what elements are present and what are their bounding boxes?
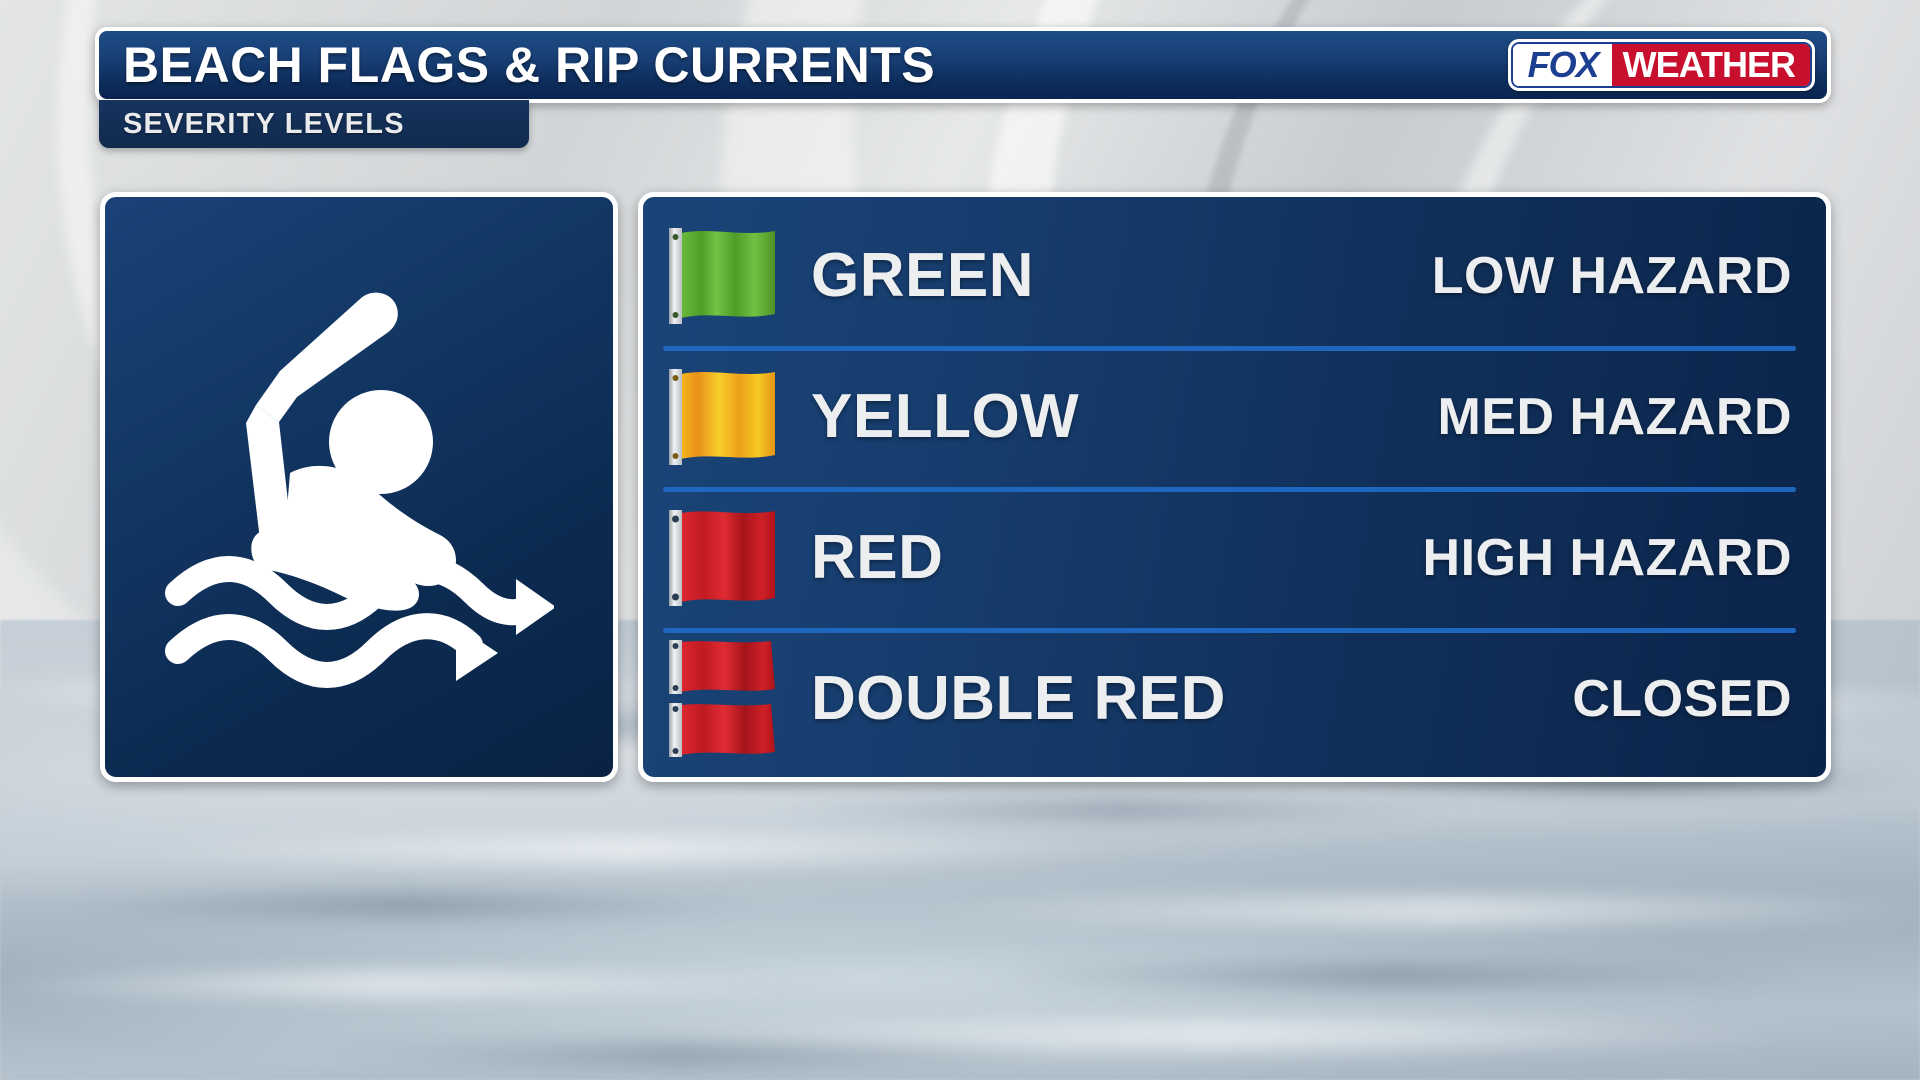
green-beach-flag-icon bbox=[663, 226, 793, 326]
red-beach-flag-icon bbox=[663, 702, 793, 758]
graphic-stage: BEACH FLAGS & RIP CURRENTS FOX WEATHER S… bbox=[0, 0, 1920, 1080]
legend-row-red[interactable]: RED HIGH HAZARD bbox=[643, 487, 1826, 628]
legend-hazard-label: MED HAZARD bbox=[1437, 387, 1792, 447]
legend-row-green[interactable]: GREEN LOW HAZARD bbox=[643, 205, 1826, 346]
severity-legend-panel: GREEN LOW HAZARD bbox=[638, 192, 1831, 782]
legend-row-yellow[interactable]: YELLOW MED HAZARD bbox=[643, 346, 1826, 487]
severity-levels-tab: SEVERITY LEVELS bbox=[99, 100, 529, 148]
double-red-beach-flag-icon bbox=[663, 639, 793, 758]
flag-cell bbox=[663, 226, 811, 326]
fox-logo-text: FOX bbox=[1513, 44, 1612, 86]
yellow-beach-flag-icon bbox=[663, 367, 793, 467]
rip-current-icon-panel bbox=[100, 192, 618, 782]
red-beach-flag-icon bbox=[663, 508, 793, 608]
flag-cell bbox=[663, 367, 811, 467]
red-beach-flag-icon bbox=[663, 639, 793, 695]
legend-hazard-label: LOW HAZARD bbox=[1432, 246, 1792, 306]
weather-logo-text: WEATHER bbox=[1612, 44, 1810, 86]
legend-row-double-red[interactable]: DOUBLE RED CLOSED bbox=[643, 628, 1826, 769]
flag-cell bbox=[663, 639, 811, 758]
legend-color-label: YELLOW bbox=[811, 381, 1437, 452]
fox-weather-logo[interactable]: FOX WEATHER bbox=[1508, 39, 1815, 91]
swimmer-in-rip-current-icon bbox=[164, 277, 554, 697]
legend-hazard-label: HIGH HAZARD bbox=[1423, 528, 1792, 588]
flag-cell bbox=[663, 508, 811, 608]
page-title: BEACH FLAGS & RIP CURRENTS bbox=[123, 36, 935, 94]
legend-color-label: DOUBLE RED bbox=[811, 663, 1572, 734]
legend-color-label: GREEN bbox=[811, 240, 1432, 311]
legend-hazard-label: CLOSED bbox=[1572, 669, 1792, 729]
title-bar: BEACH FLAGS & RIP CURRENTS FOX WEATHER bbox=[95, 27, 1831, 103]
severity-levels-label: SEVERITY LEVELS bbox=[123, 108, 405, 141]
legend-color-label: RED bbox=[811, 522, 1423, 593]
